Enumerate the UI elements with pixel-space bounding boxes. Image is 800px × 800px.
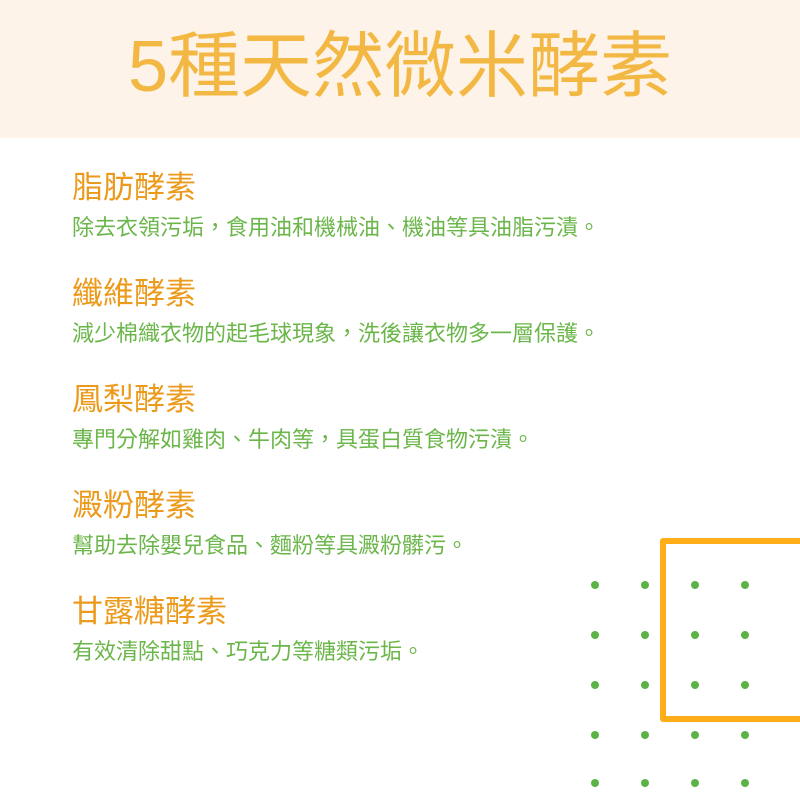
dot-decoration	[741, 779, 749, 787]
dot-decoration	[591, 779, 599, 787]
enzyme-description: 幫助去除嬰兒食品、麵粉等具澱粉髒污。	[72, 530, 732, 562]
dot-decoration	[641, 731, 649, 739]
enzyme-name: 脂肪酵素	[72, 168, 732, 208]
dot-decoration	[691, 731, 699, 739]
dot-decoration	[641, 681, 649, 689]
dot-decoration	[691, 779, 699, 787]
enzyme-item-bromelain: 鳳梨酵素 專門分解如雞肉、牛肉等，具蛋白質食物污漬。	[72, 380, 732, 456]
enzyme-description: 專門分解如雞肉、牛肉等，具蛋白質食物污漬。	[72, 424, 732, 456]
dot-decoration	[591, 731, 599, 739]
dot-decoration	[741, 581, 749, 589]
enzyme-item-mannanase: 甘露糖酵素 有效清除甜點、巧克力等糖類污垢。	[72, 592, 732, 668]
enzyme-item-lipase: 脂肪酵素 除去衣領污垢，食用油和機械油、機油等具油脂污漬。	[72, 168, 732, 244]
dot-decoration	[591, 681, 599, 689]
dot-decoration	[691, 681, 699, 689]
dot-decoration	[741, 731, 749, 739]
dot-decoration	[641, 779, 649, 787]
enzyme-name: 纖維酵素	[72, 274, 732, 314]
enzyme-item-cellulase: 纖維酵素 減少棉織衣物的起毛球現象，洗後讓衣物多一層保護。	[72, 274, 732, 350]
enzyme-description: 有效清除甜點、巧克力等糖類污垢。	[72, 636, 732, 668]
enzyme-description: 除去衣領污垢，食用油和機械油、機油等具油脂污漬。	[72, 212, 732, 244]
page-title: 5種天然微米酵素	[128, 31, 672, 107]
enzyme-name: 澱粉酵素	[72, 486, 732, 526]
enzyme-list: 脂肪酵素 除去衣領污垢，食用油和機械油、機油等具油脂污漬。 纖維酵素 減少棉織衣…	[72, 168, 732, 668]
enzyme-description: 減少棉織衣物的起毛球現象，洗後讓衣物多一層保護。	[72, 318, 732, 350]
enzyme-name: 甘露糖酵素	[72, 592, 732, 632]
dot-decoration	[741, 631, 749, 639]
dot-decoration	[741, 681, 749, 689]
enzyme-item-amylase: 澱粉酵素 幫助去除嬰兒食品、麵粉等具澱粉髒污。	[72, 486, 732, 562]
poster-canvas: 5種天然微米酵素 脂肪酵素 除去衣領污垢，食用油和機械油、機油等具油脂污漬。 纖…	[0, 0, 800, 800]
enzyme-name: 鳳梨酵素	[72, 380, 732, 420]
header-band: 5種天然微米酵素	[0, 0, 800, 138]
